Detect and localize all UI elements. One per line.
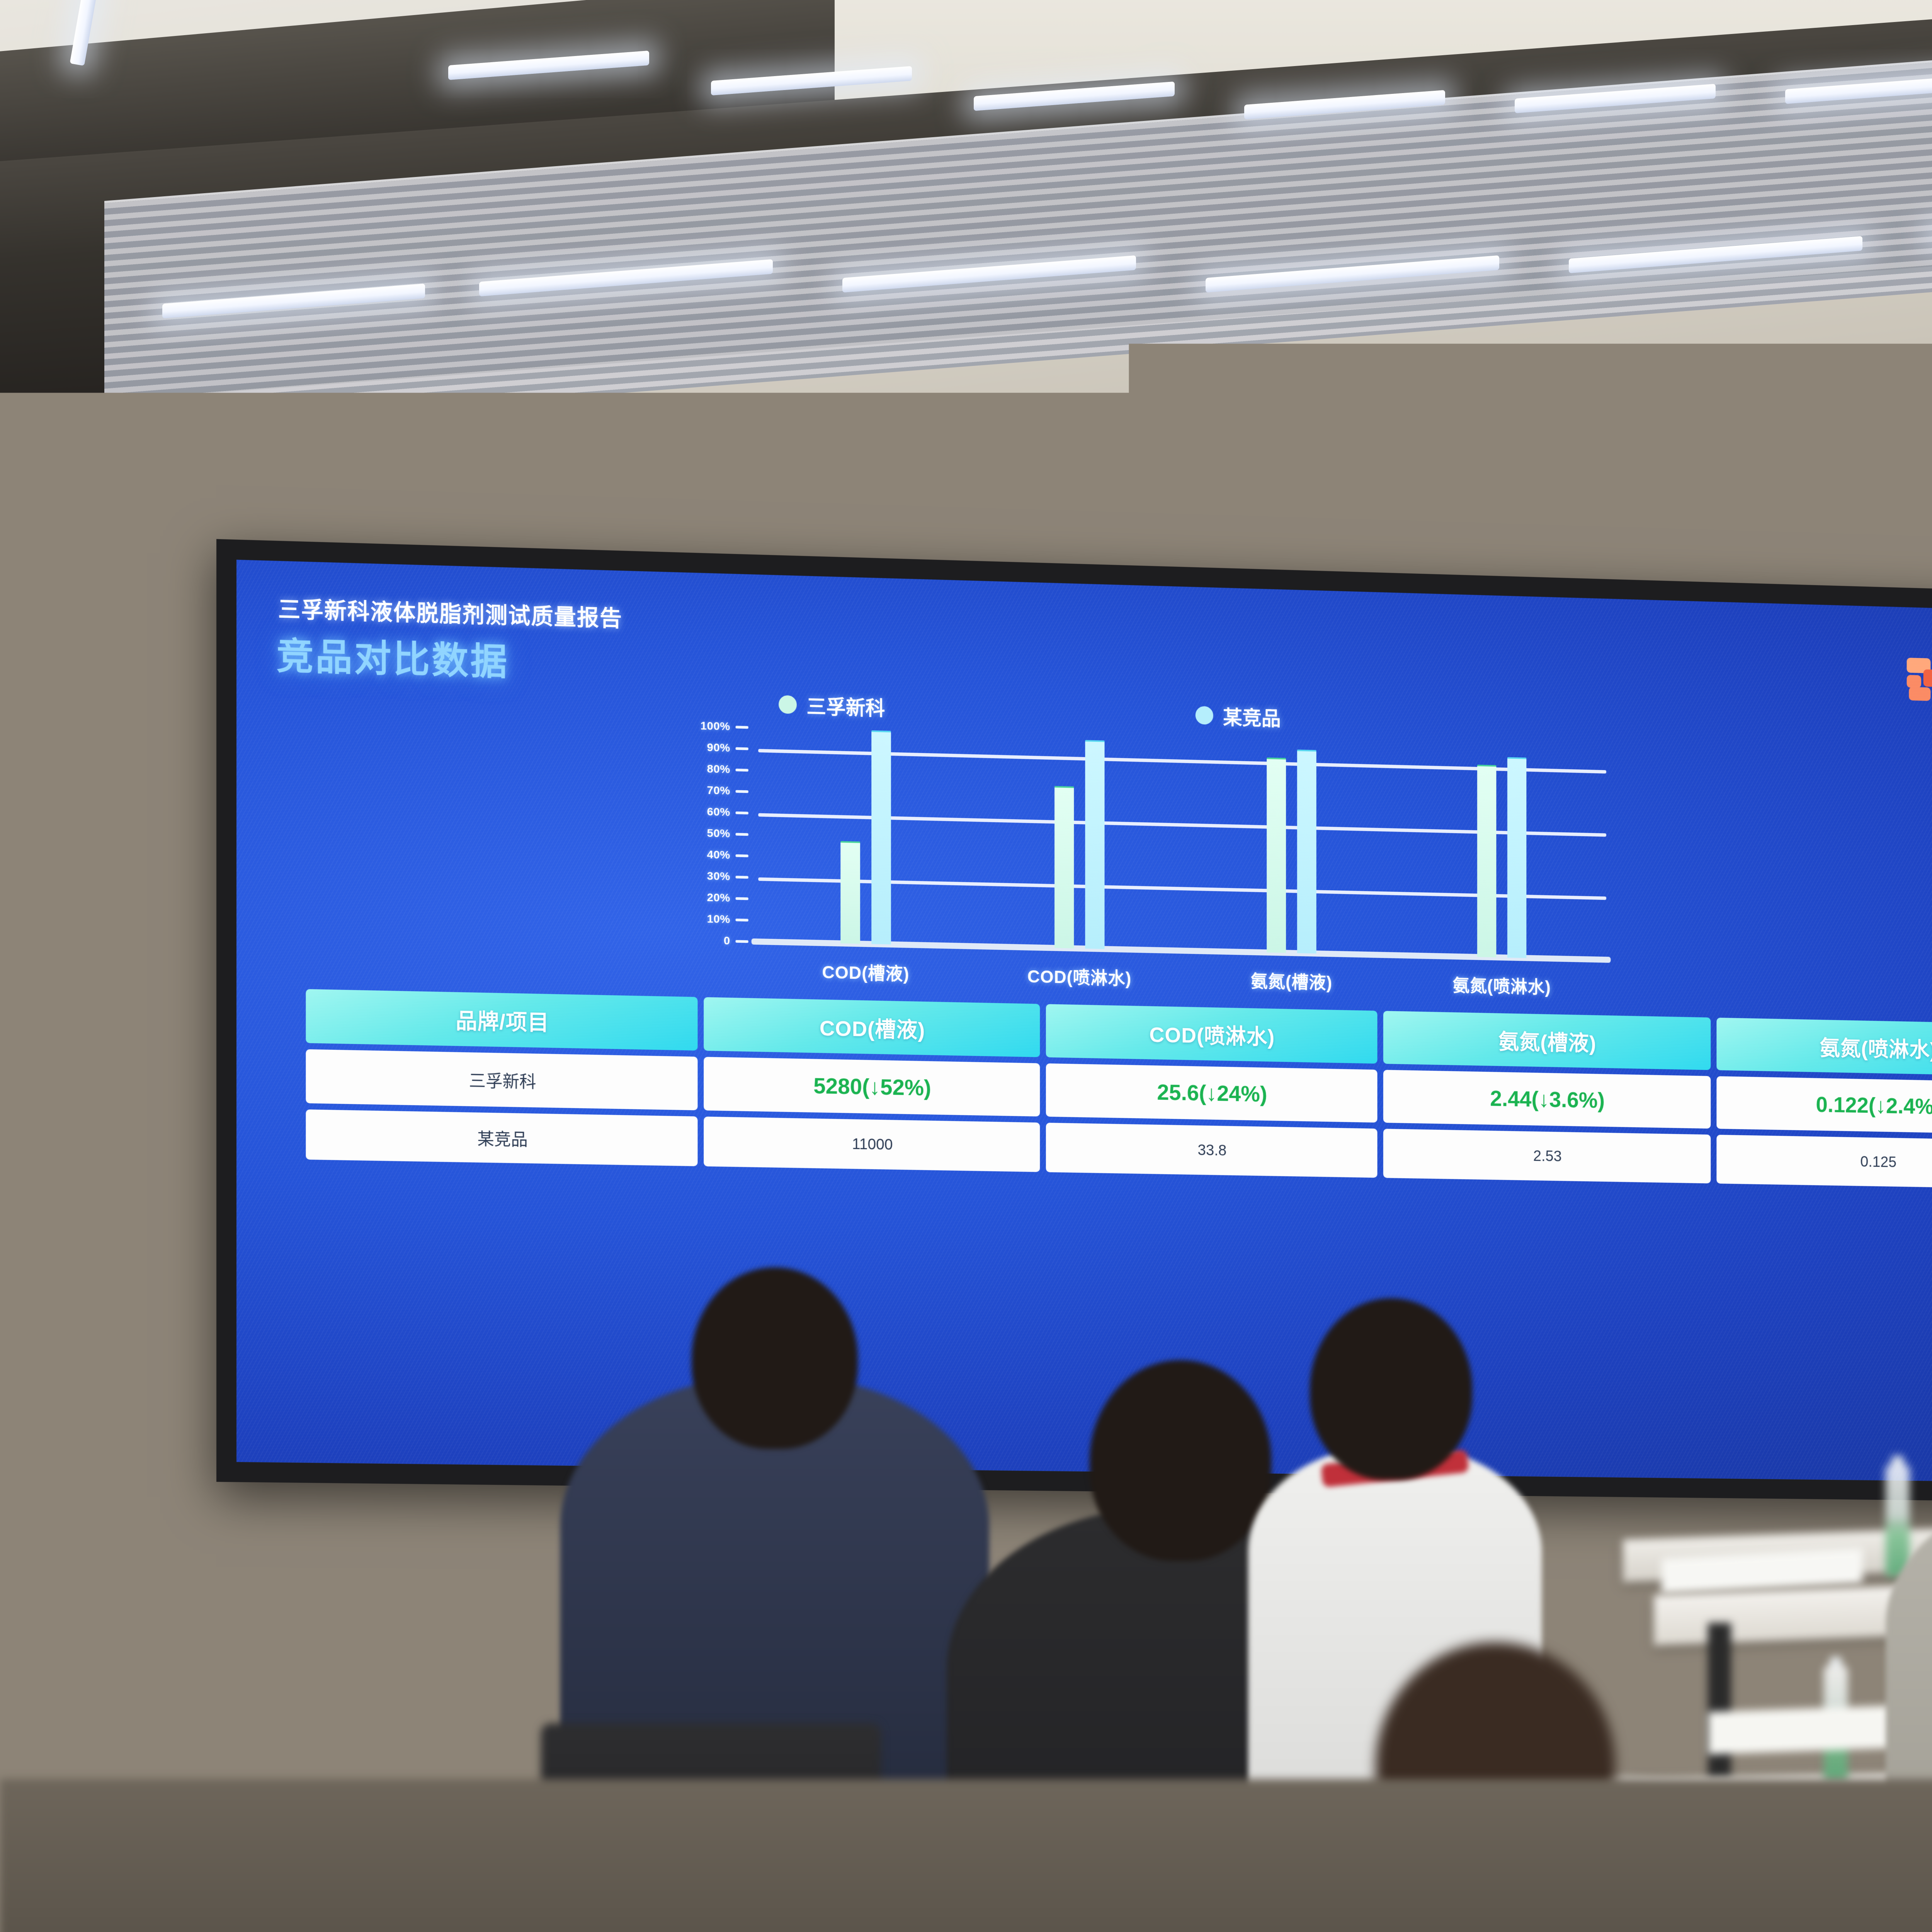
conference-room-scene: – ❐ ✕ 三孚新科液体脱脂剂测试质量报告 竞品对比数据 [0,0,1932,1932]
legend-item-sanfu: 三孚新科 [779,690,885,721]
table-cell-value: 5280(↓52%) [704,1057,1040,1116]
table-header-cell: 氨氮(槽液) [1383,1011,1711,1070]
company-logo: 三孚新科 SANFU TECH [1907,658,1932,705]
bar-group [1397,754,1606,960]
legend-item-competitor: 某竞品 [1196,701,1281,731]
led-screen-frame: – ❐ ✕ 三孚新科液体脱脂剂测试质量报告 竞品对比数据 [216,539,1932,1502]
x-tick-label: 氨氮(喷淋水) [1397,970,1606,1000]
table-header-cell: 品牌/项目 [306,989,697,1051]
x-tick-label: COD(槽液) [758,957,973,987]
bar-competitor [1085,740,1104,949]
x-tick-label: 氨氮(槽液) [1186,966,1397,995]
legend-dot-icon [1196,706,1213,724]
y-tick-mark-icon [736,790,748,793]
water-bottle [1886,1464,1910,1577]
y-tick: 20% [707,891,748,905]
legend-label: 某竞品 [1223,701,1281,731]
bar-chart: 100% 90% 80% 70% 60% 50% 40% [669,725,1608,997]
y-tick: 80% [707,762,748,776]
y-tick-mark-icon [736,811,748,815]
bar-group [1186,747,1397,956]
audience-member-head [1310,1298,1472,1480]
chart-y-axis: 100% 90% 80% 70% 60% 50% 40% [669,725,748,942]
y-tick-label: 80% [707,762,730,776]
table-cell-value: 33.8 [1046,1123,1378,1178]
sanfu-sf-mark-icon [1907,658,1932,702]
audience-member-head [692,1267,858,1449]
y-tick-mark-icon [736,854,748,857]
comparison-table: 品牌/项目 COD(槽液) COD(喷淋水) 氨氮(槽液) 氨氮(喷淋水) 三孚… [306,989,1932,1195]
table-header-cell: COD(槽液) [704,997,1040,1057]
y-tick: 0 [724,934,748,948]
y-tick-label: 60% [707,805,730,819]
y-tick-label: 40% [707,848,730,862]
table-header-cell: 氨氮(喷淋水) [1716,1018,1932,1077]
y-tick: 70% [707,784,748,798]
y-tick: 60% [707,805,748,819]
bar-sanfu [840,841,860,944]
y-tick-label: 90% [707,741,730,755]
y-tick-mark-icon [736,747,748,750]
table-cell-value: 2.44(↓3.6%) [1383,1070,1711,1129]
bar-sanfu [1477,765,1496,957]
led-screen[interactable]: – ❐ ✕ 三孚新科液体脱脂剂测试质量报告 竞品对比数据 [236,560,1932,1483]
x-tick-label: COD(喷淋水) [973,961,1186,991]
y-tick: 90% [707,741,748,755]
table-cell-brand: 某竞品 [306,1109,697,1166]
bar-groups [758,728,1606,960]
legend-label: 三孚新科 [806,690,885,721]
bar-competitor [1297,750,1316,954]
y-tick-label: 70% [707,784,730,798]
y-tick-mark-icon [736,726,748,729]
table-cell-value: 2.53 [1383,1129,1711,1183]
table-cell-value: 25.6(↓24%) [1046,1063,1378,1122]
bar-competitor [871,730,891,944]
y-tick-mark-icon [736,769,748,772]
slide-subtitle: 三孚新科液体脱脂剂测试质量报告 [278,591,622,633]
presentation-slide: – ❐ ✕ 三孚新科液体脱脂剂测试质量报告 竞品对比数据 [236,560,1932,1483]
floor [0,1779,1932,1932]
chart-legend: 三孚新科 某竞品 [779,690,1281,731]
table-cell-brand: 三孚新科 [306,1049,697,1110]
legend-dot-icon [779,695,797,714]
table-header-cell: COD(喷淋水) [1046,1004,1378,1063]
y-tick: 10% [707,913,748,927]
y-tick-label: 100% [701,719,730,733]
bar-competitor [1507,757,1526,958]
y-tick: 50% [707,827,748,841]
bar-group [758,728,973,946]
bar-sanfu [1054,786,1074,948]
bar-group [973,737,1186,951]
y-tick-label: 10% [707,913,730,926]
table-cell-value: 0.122(↓2.4%) [1716,1076,1932,1134]
wall-dark-column-left [0,448,216,1515]
y-tick: 40% [707,848,748,862]
y-tick-label: 50% [707,827,730,840]
y-tick-mark-icon [736,833,748,836]
y-tick-mark-icon [736,940,748,943]
y-tick: 100% [701,719,748,734]
y-tick-mark-icon [736,918,748,922]
y-tick-label: 20% [707,891,730,905]
bar-sanfu [1267,757,1286,953]
table-cell-value: 11000 [704,1117,1040,1172]
y-tick: 30% [707,870,748,884]
y-tick-mark-icon [736,876,748,879]
audience-member-head [1090,1360,1271,1561]
y-tick-label: 30% [707,870,730,883]
table-cell-value: 0.125 [1716,1135,1932,1189]
y-tick-label: 0 [724,934,730,947]
slide-title: 竞品对比数据 [277,626,509,685]
chart-plot-area [758,728,1608,960]
y-tick-mark-icon [736,897,748,900]
